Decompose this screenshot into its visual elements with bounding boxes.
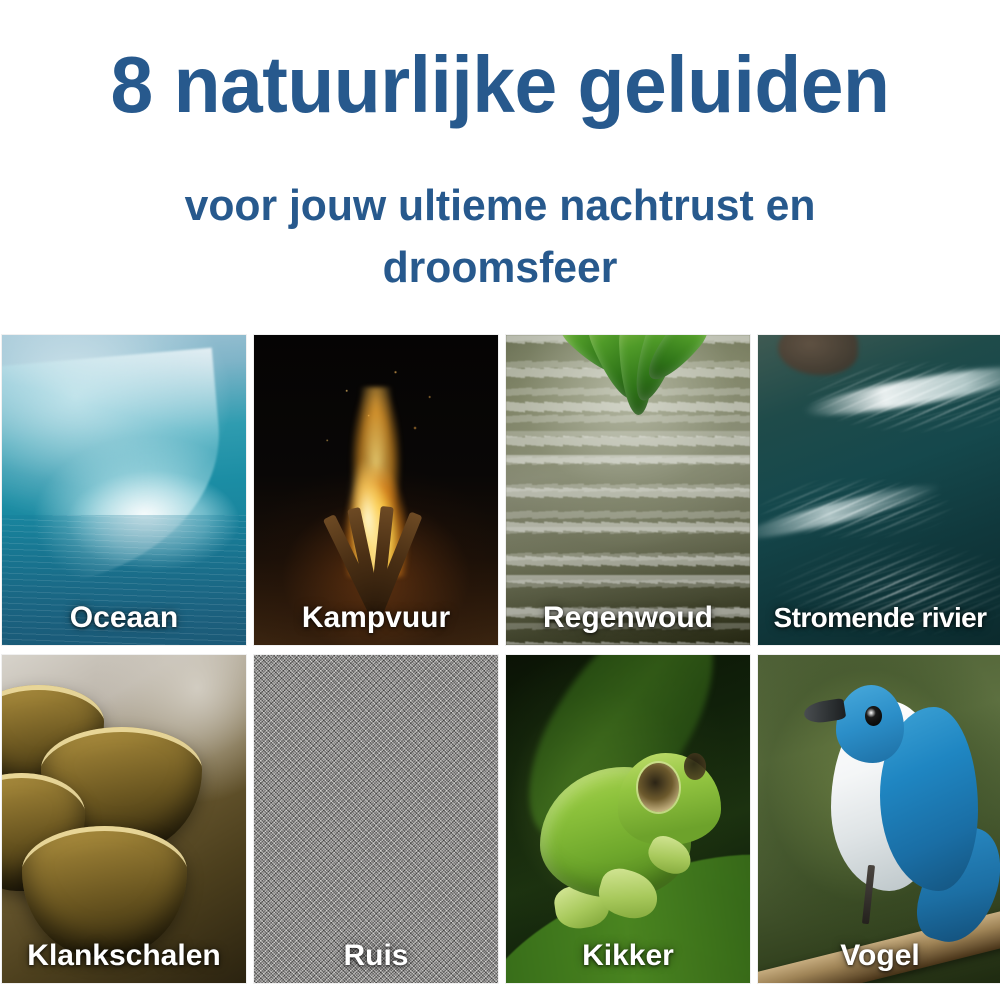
sound-tile-kikker[interactable]: Kikker — [506, 655, 750, 983]
tile-label: Klankschalen — [2, 939, 246, 973]
sound-tile-vogel[interactable]: Vogel — [758, 655, 1000, 983]
sound-tile-kampvuur[interactable]: Kampvuur — [254, 335, 498, 645]
tile-label: Kikker — [506, 939, 750, 973]
bird-eye-icon — [865, 706, 882, 726]
header: 8 natuurlijke geluiden voor jouw ultieme… — [0, 0, 1000, 330]
rainforest-image — [506, 335, 750, 645]
leaves-group — [506, 335, 750, 469]
tile-label: Kampvuur — [254, 601, 498, 635]
logs-group — [301, 504, 451, 614]
tile-label: Stromende rivier — [758, 601, 1000, 635]
page-subtitle: voor jouw ultieme nachtrust en droomsfee… — [83, 175, 917, 299]
page-title: 8 natuurlijke geluiden — [20, 42, 980, 128]
sound-tile-oceaan[interactable]: Oceaan — [2, 335, 246, 645]
tile-label: Regenwoud — [506, 601, 750, 635]
sound-tile-ruis[interactable]: Ruis — [254, 655, 498, 983]
sound-tile-regenwoud[interactable]: Regenwoud — [506, 335, 750, 645]
tile-label: Ruis — [254, 939, 498, 973]
bird-image — [758, 655, 1000, 983]
campfire-image — [254, 335, 498, 645]
sound-tile-stromende-rivier[interactable]: Stromende rivier — [758, 335, 1000, 645]
sound-tile-grid: Oceaan Kampvuur — [0, 335, 1000, 987]
ocean-wave-image — [2, 335, 246, 645]
frog-eye-icon — [684, 753, 706, 779]
frog-image — [506, 655, 750, 983]
infographic-page: 8 natuurlijke geluiden voor jouw ultieme… — [0, 0, 1000, 1000]
sound-tile-klankschalen[interactable]: Klankschalen — [2, 655, 246, 983]
singing-bowls-image — [2, 655, 246, 983]
white-noise-image — [254, 655, 498, 983]
tile-label: Vogel — [758, 939, 1000, 973]
tile-label: Oceaan — [2, 601, 246, 635]
river-image — [758, 335, 1000, 645]
